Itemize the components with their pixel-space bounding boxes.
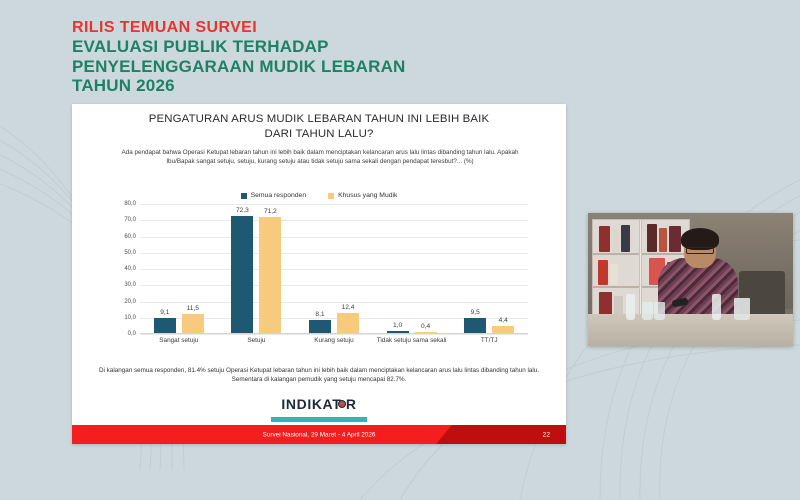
slide-page-number: 22 xyxy=(543,431,550,438)
bar-value-label: 1,0 xyxy=(393,322,402,329)
bar-value-label: 71,2 xyxy=(264,208,277,215)
plot-canvas: 9,111,572,371,28,112,41,00,49,54,4 xyxy=(140,204,528,334)
legend-swatch-icon-series-a xyxy=(241,193,247,199)
y-axis-tick: 70,0 xyxy=(124,217,136,223)
book xyxy=(610,264,618,285)
chart-legend: Semua responden Khusus yang Mudik xyxy=(72,192,566,199)
book xyxy=(598,260,608,285)
bar-value-label: 11,5 xyxy=(187,305,199,312)
bar-group: 9,111,5 xyxy=(140,204,218,333)
y-axis-tick: 0,0 xyxy=(128,331,136,337)
bar-series-b[interactable] xyxy=(492,326,514,333)
bar-value-label: 72,3 xyxy=(236,207,249,214)
chart-subtitle: Ada pendapat bahwa Operasi Ketupat lebar… xyxy=(110,148,530,166)
bar-group: 8,112,4 xyxy=(295,204,373,333)
presentation-header: RILIS TEMUAN SURVEI EVALUASI PUBLIK TERH… xyxy=(72,18,532,96)
y-axis-tick: 20,0 xyxy=(124,299,136,305)
book xyxy=(669,226,681,252)
chart-plot-area: 0,010,020,030,040,050,060,070,080,0 9,11… xyxy=(110,204,528,352)
bar-slot: 9,1 xyxy=(154,204,176,333)
legend-item-khusus-yang-mudik: Khusus yang Mudik xyxy=(328,192,397,199)
bar-slot: 0,4 xyxy=(415,204,437,333)
book xyxy=(599,226,610,252)
header-line-1: RILIS TEMUAN SURVEI xyxy=(72,18,532,37)
header-line-3: PENYELENGGARAAN MUDIK LEBARAN xyxy=(72,57,532,77)
bar-series-b[interactable] xyxy=(182,314,204,333)
water-bottle xyxy=(626,294,635,320)
slide-presentation-screen: RILIS TEMUAN SURVEI EVALUASI PUBLIK TERH… xyxy=(0,0,800,500)
water-bottle xyxy=(712,294,721,320)
video-speaker-glasses xyxy=(686,247,714,254)
bar-series-a[interactable] xyxy=(154,318,176,333)
bar-slot: 72,3 xyxy=(231,204,253,333)
bar-slot: 4,4 xyxy=(492,204,514,333)
bar-series-a[interactable] xyxy=(231,216,253,333)
indikator-logo-dot-icon xyxy=(338,400,346,408)
bar-slot: 12,4 xyxy=(337,204,359,333)
chart-title-line-2: DARI TAHUN LALU? xyxy=(96,127,542,142)
bar-series-a[interactable] xyxy=(309,320,331,333)
book xyxy=(659,228,667,252)
chart-title-line-1: PENGATURAN ARUS MUDIK LEBARAN TAHUN INI … xyxy=(96,112,542,127)
y-axis-tick: 80,0 xyxy=(124,201,136,207)
legend-label-series-b: Khusus yang Mudik xyxy=(338,192,397,199)
indikator-logo: INDIKAT R xyxy=(72,396,566,414)
y-axis-tick: 30,0 xyxy=(124,282,136,288)
chart-conclusion-text: Di kalangan semua responden, 81.4% setuj… xyxy=(98,366,540,385)
bar-slot: 1,0 xyxy=(387,204,409,333)
legend-swatch-icon-series-b xyxy=(328,193,334,199)
book xyxy=(612,229,619,252)
slide-footer: Survei Nasional, 29 Maret - 4 April 2026… xyxy=(72,425,566,444)
legend-item-semua-responden: Semua responden xyxy=(241,192,307,199)
bar-value-label: 9,5 xyxy=(471,309,480,316)
indikator-logo-text: INDIKAT R xyxy=(281,396,356,412)
speaker-video-tile[interactable] xyxy=(588,213,793,346)
drinking-glass xyxy=(642,302,653,320)
bar-value-label: 9,1 xyxy=(160,309,169,316)
bar-series-a[interactable] xyxy=(387,331,409,333)
bar-slot: 8,1 xyxy=(309,204,331,333)
x-axis-labels: Sangat setujuSetujuKurang setujuTidak se… xyxy=(140,337,528,345)
bar-value-label: 4,4 xyxy=(499,317,508,324)
bar-value-label: 8,1 xyxy=(315,311,324,318)
footer-survey-period: Survei Nasional, 29 Maret - 4 April 2026 xyxy=(263,431,376,438)
bar-value-label: 0,4 xyxy=(421,323,430,330)
y-axis-tick: 10,0 xyxy=(124,315,136,321)
x-axis-label: TT/TJ xyxy=(450,337,528,345)
header-line-2: EVALUASI PUBLIK TERHADAP xyxy=(72,37,532,57)
header-line-4: TAHUN 2026 xyxy=(72,76,532,96)
gridline xyxy=(140,334,528,335)
book xyxy=(647,224,657,252)
drinking-glass xyxy=(654,302,665,320)
bar-series-a[interactable] xyxy=(464,318,486,333)
y-axis: 0,010,020,030,040,050,060,070,080,0 xyxy=(110,204,138,334)
video-desk xyxy=(588,314,793,346)
bar-series-b[interactable] xyxy=(415,332,437,333)
x-axis-label: Kurang setuju xyxy=(295,337,373,345)
legend-label-series-a: Semua responden xyxy=(251,192,307,199)
x-axis-label: Sangat setuju xyxy=(140,337,218,345)
bar-value-label: 12,4 xyxy=(342,304,355,311)
bar-group: 9,54,4 xyxy=(450,204,528,333)
bar-slot: 9,5 xyxy=(464,204,486,333)
bar-series-b[interactable] xyxy=(259,217,281,333)
chart-title: PENGATURAN ARUS MUDIK LEBARAN TAHUN INI … xyxy=(96,112,542,142)
bar-slot: 11,5 xyxy=(182,204,204,333)
y-axis-tick: 60,0 xyxy=(124,234,136,240)
slide-panel: PENGATURAN ARUS MUDIK LEBARAN TAHUN INI … xyxy=(72,104,566,444)
bar-group: 1,00,4 xyxy=(373,204,451,333)
bar-group: 72,371,2 xyxy=(218,204,296,333)
book xyxy=(621,225,630,252)
bar-slot: 71,2 xyxy=(259,204,281,333)
tumbler xyxy=(734,298,750,320)
x-axis-label: Tidak setuju sama sekali xyxy=(373,337,451,345)
bar-groups: 9,111,572,371,28,112,41,00,49,54,4 xyxy=(140,204,528,333)
x-axis-label: Setuju xyxy=(218,337,296,345)
indikator-logo-bar xyxy=(271,417,367,422)
bar-series-b[interactable] xyxy=(337,313,359,333)
y-axis-tick: 40,0 xyxy=(124,266,136,272)
y-axis-tick: 50,0 xyxy=(124,250,136,256)
